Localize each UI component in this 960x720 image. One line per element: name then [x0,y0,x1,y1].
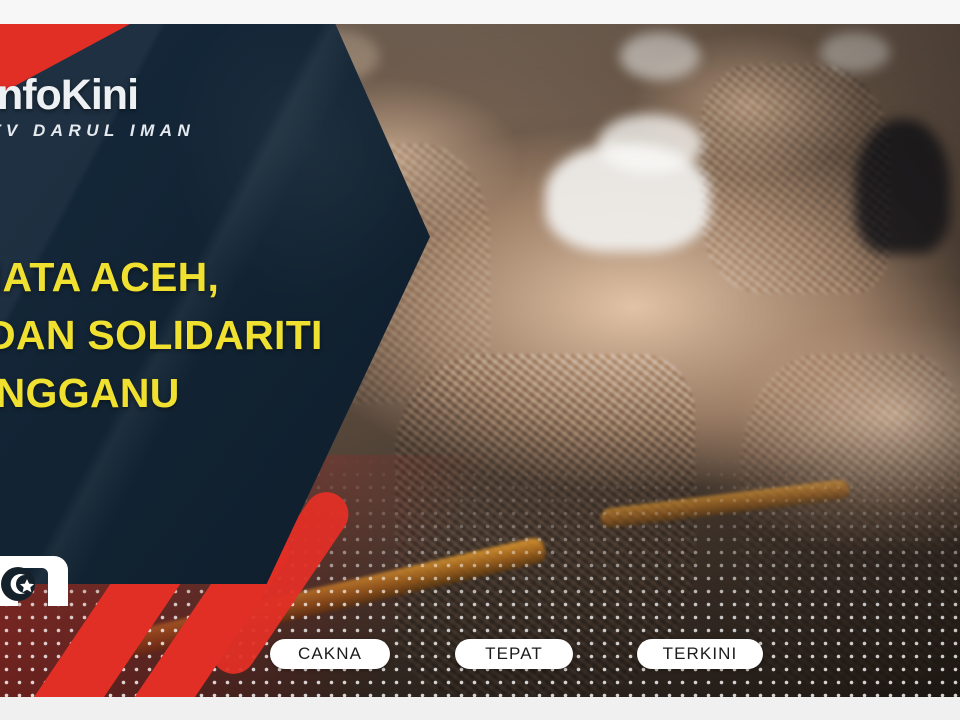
brand-name: InfoKini [0,74,195,117]
tag-pill-tepat[interactable]: TEPAT [455,639,573,669]
headline: MATA ACEH, DAN SOLIDARITI ENGGANU [0,248,388,423]
tag-pill-terkini-label: TERKINI [663,644,738,664]
news-broadcast-graphic: InfoKini TV DARUL IMAN MATA ACEH, DAN SO… [0,0,960,720]
brand-subtitle: TV DARUL IMAN [0,121,195,141]
headline-line-3: ENGGANU [0,364,388,422]
tag-pill-row: CAKNA TEPAT TERKINI [0,639,960,669]
crescent-star-logo-icon [0,548,72,610]
headline-line-2: DAN SOLIDARITI [0,306,388,364]
letterbox-band-top [0,0,960,24]
brand-lockup: InfoKini TV DARUL IMAN [0,74,195,141]
tag-pill-tepat-label: TEPAT [485,644,543,664]
tag-pill-cakna-label: CAKNA [298,644,362,664]
headline-line-1: MATA ACEH, [0,248,388,306]
letterbox-band-bottom [0,697,960,720]
tag-pill-cakna[interactable]: CAKNA [270,639,390,669]
tag-pill-terkini[interactable]: TERKINI [637,639,763,669]
